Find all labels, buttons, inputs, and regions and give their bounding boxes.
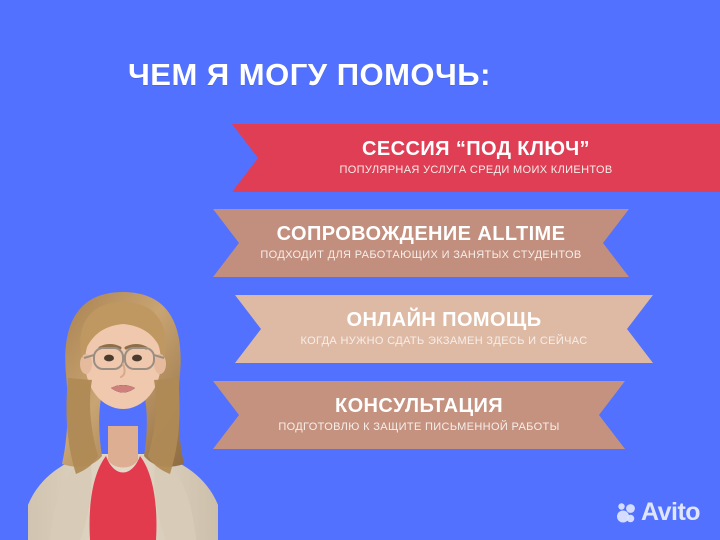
service-ribbon-2[interactable]: СОПРОВОЖДЕНИЕ ALLTIME ПОДХОДИТ ДЛЯ РАБОТ… bbox=[213, 209, 629, 277]
service-ribbon-2-title: СОПРОВОЖДЕНИЕ ALLTIME bbox=[277, 224, 566, 245]
service-ribbon-4[interactable]: КОНСУЛЬТАЦИЯ ПОДГОТОВЛЮ К ЗАЩИТЕ ПИСЬМЕН… bbox=[213, 381, 625, 449]
page-title: ЧЕМ Я МОГУ ПОМОЧЬ: bbox=[128, 57, 491, 93]
service-ribbon-1-title: СЕССИЯ “ПОД КЛЮЧ” bbox=[362, 139, 590, 160]
avito-watermark: Avito bbox=[616, 500, 700, 525]
service-ribbon-1[interactable]: СЕССИЯ “ПОД КЛЮЧ” ПОПУЛЯРНАЯ УСЛУГА СРЕД… bbox=[232, 124, 720, 192]
avito-dots-icon bbox=[616, 503, 636, 523]
service-ribbon-2-subtitle: ПОДХОДИТ ДЛЯ РАБОТАЮЩИХ И ЗАНЯТЫХ СТУДЕН… bbox=[260, 249, 581, 261]
service-ribbon-4-title: КОНСУЛЬТАЦИЯ bbox=[335, 396, 503, 417]
service-ribbon-3-title: ОНЛАЙН ПОМОЩЬ bbox=[347, 310, 542, 331]
service-ribbon-4-subtitle: ПОДГОТОВЛЮ К ЗАЩИТЕ ПИСЬМЕННОЙ РАБОТЫ bbox=[278, 421, 559, 433]
poster-canvas: ЧЕМ Я МОГУ ПОМОЧЬ: СЕССИЯ “ПОД КЛЮЧ” ПОП… bbox=[0, 0, 720, 540]
avito-wordmark: Avito bbox=[641, 500, 700, 525]
service-ribbon-3[interactable]: ОНЛАЙН ПОМОЩЬ КОГДА НУЖНО СДАТЬ ЭКЗАМЕН … bbox=[235, 295, 653, 363]
service-ribbon-1-subtitle: ПОПУЛЯРНАЯ УСЛУГА СРЕДИ МОИХ КЛИЕНТОВ bbox=[339, 164, 612, 176]
service-ribbon-3-subtitle: КОГДА НУЖНО СДАТЬ ЭКЗАМЕН ЗДЕСЬ И СЕЙЧАС bbox=[300, 335, 587, 347]
presenter-photo bbox=[28, 278, 218, 540]
